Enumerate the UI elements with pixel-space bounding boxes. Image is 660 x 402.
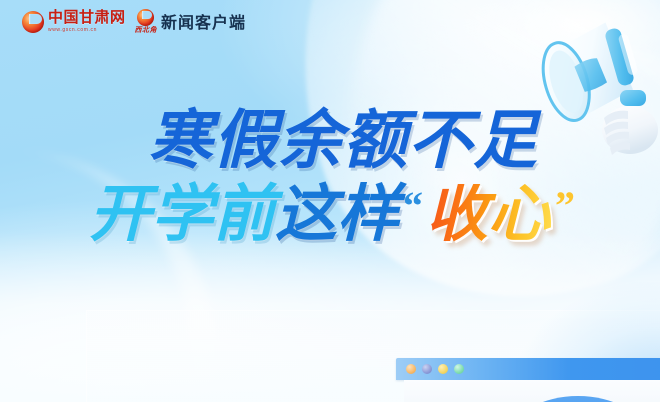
brand-primary-url: www.gscn.com.cn — [48, 28, 126, 33]
dot-green — [454, 364, 464, 374]
dot-yellow — [438, 364, 448, 374]
brand-secondary-mark-label: 西北角 — [135, 27, 158, 34]
brand-secondary-mark: 西北角 — [135, 9, 158, 34]
headline-segment-kaixueqian: 开学前 — [89, 184, 275, 246]
quote-close-mark: ” — [555, 186, 575, 226]
headline-line-2: 开学前 这样 “ 收心 ” — [0, 184, 660, 246]
dot-periwinkle — [422, 364, 432, 374]
browser-content-area — [404, 380, 660, 402]
brand-zhongguo-gansu-wang[interactable]: 中国甘肃网 www.gscn.com.cn — [22, 11, 126, 33]
dot-orange — [406, 364, 416, 374]
flame-swirl-icon — [22, 11, 44, 33]
masthead: 中国甘肃网 www.gscn.com.cn 西北角 新闻客户端 — [22, 9, 246, 34]
brand-primary-name: 中国甘肃网 — [48, 11, 126, 26]
poster-canvas: 中国甘肃网 www.gscn.com.cn 西北角 新闻客户端 寒假余额不足 开… — [0, 0, 660, 402]
brand-primary-text: 中国甘肃网 www.gscn.com.cn — [48, 11, 126, 33]
headline-block: 寒假余额不足 开学前 这样 “ 收心 ” — [0, 108, 660, 246]
quote-open-mark: “ — [403, 186, 423, 226]
browser-content-blob — [512, 396, 644, 402]
headline-segment-zheyang: 这样 — [275, 184, 399, 246]
browser-window-mock — [396, 358, 660, 402]
browser-title-bar — [396, 358, 660, 380]
headline-segment-shouxin: 收心 — [424, 184, 552, 246]
brand-secondary-name: 新闻客户端 — [161, 9, 246, 33]
flame-swirl-icon — [137, 9, 154, 26]
headline-line-1: 寒假余额不足 — [0, 108, 660, 172]
brand-news-client[interactable]: 西北角 新闻客户端 — [135, 9, 247, 34]
